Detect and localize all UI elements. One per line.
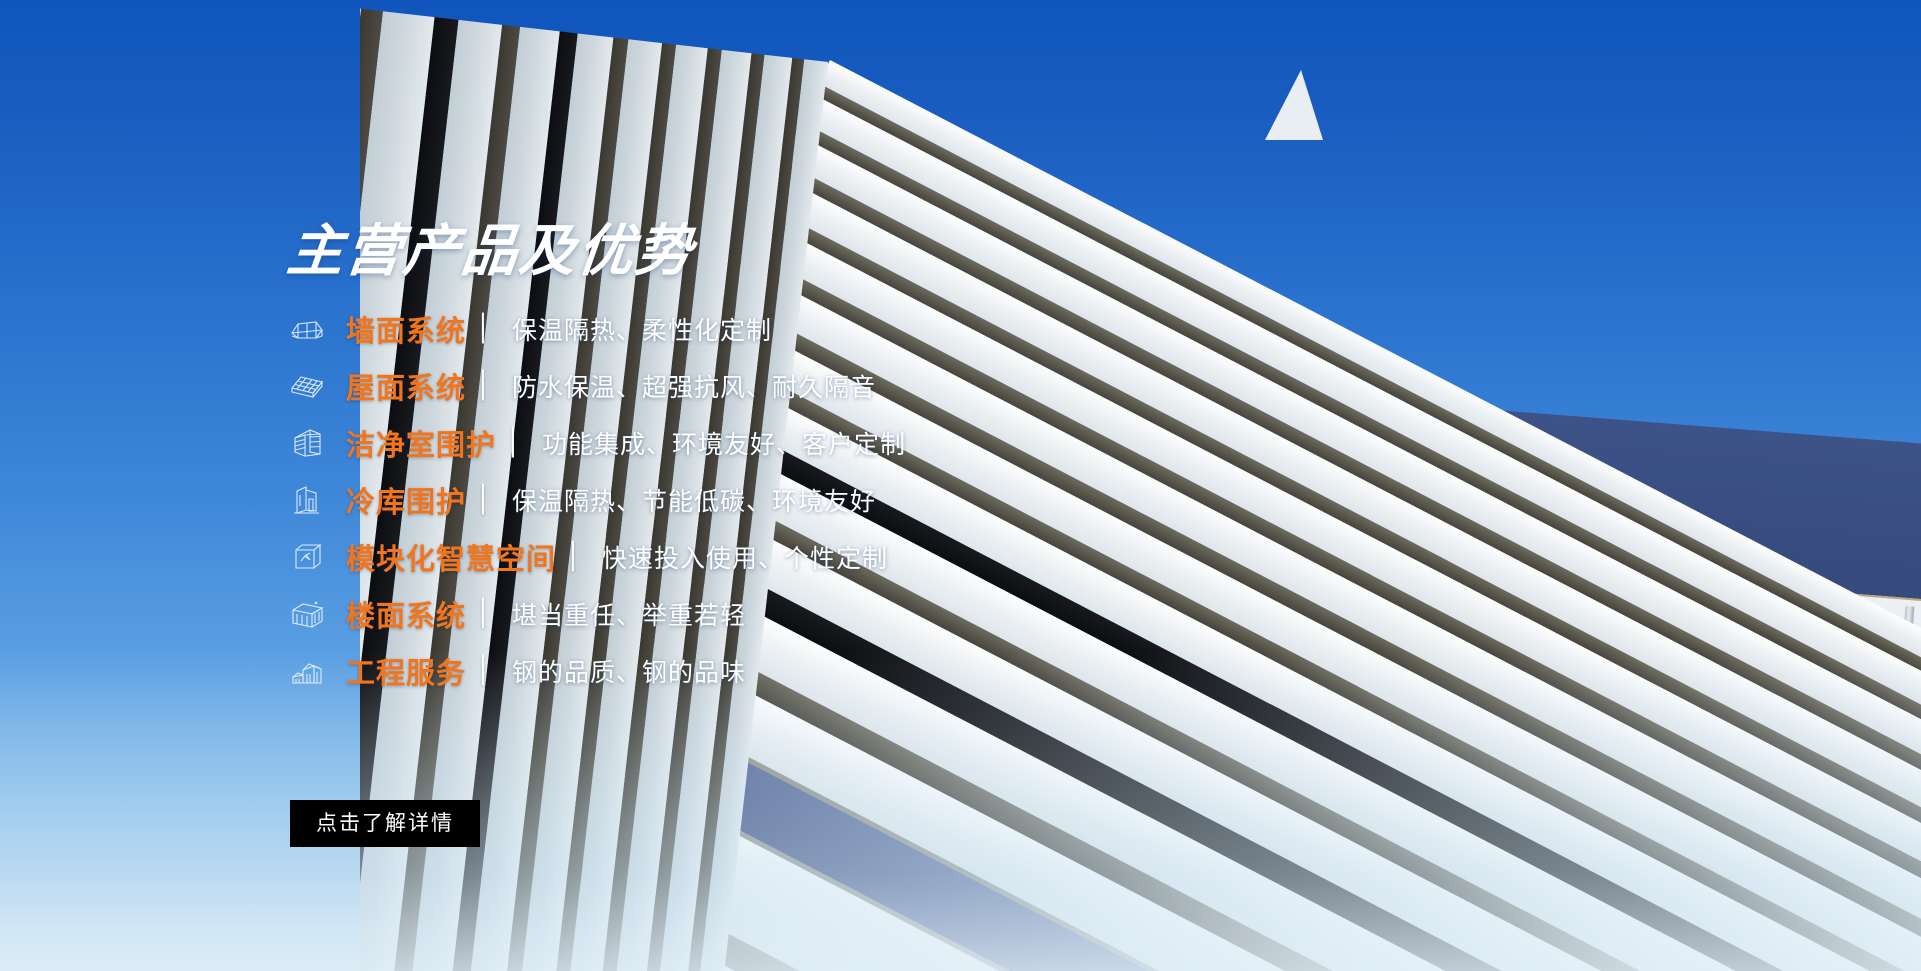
product-category: 楼面系统 (346, 593, 466, 635)
separator: ▏ (482, 598, 498, 629)
separator: ▏ (482, 655, 498, 686)
product-desc: 防水保温、超强抗风、耐久隔音 (512, 368, 876, 404)
banner-content: 主营产品及优势 墙面系统 ▏ 保温隔热、柔性化定制 (0, 0, 1100, 971)
hero-banner: 主营产品及优势 墙面系统 ▏ 保温隔热、柔性化定制 (0, 0, 1921, 971)
tower-tip (1265, 70, 1323, 140)
wall-panel-icon (286, 308, 328, 350)
product-category: 墙面系统 (346, 308, 466, 350)
list-item[interactable]: 冷库围护 ▏ 保温隔热、节能低碳、环境友好 (286, 471, 1086, 528)
product-desc: 功能集成、环境友好、客户定制 (542, 425, 906, 461)
modular-cube-icon (286, 536, 328, 578)
separator: ▏ (482, 313, 498, 344)
separator: ▏ (512, 427, 528, 458)
product-desc: 保温隔热、节能低碳、环境友好 (512, 482, 876, 518)
factory-service-icon (286, 650, 328, 692)
product-desc: 堪当重任、举重若轻 (512, 596, 746, 632)
product-desc: 快速投入使用、个性定制 (602, 539, 888, 575)
product-category: 模块化智慧空间 (346, 536, 556, 578)
product-desc: 钢的品质、钢的品味 (512, 653, 746, 689)
product-category: 屋面系统 (346, 365, 466, 407)
list-item[interactable]: 屋面系统 ▏ 防水保温、超强抗风、耐久隔音 (286, 357, 1086, 414)
roof-panel-icon (286, 365, 328, 407)
product-list: 墙面系统 ▏ 保温隔热、柔性化定制 屋面系统 ▏ 防水保温、超强抗 (286, 300, 1086, 699)
list-item[interactable]: 模块化智慧空间 ▏ 快速投入使用、个性定制 (286, 528, 1086, 585)
list-item[interactable]: 楼面系统 ▏ 堪当重任、举重若轻 (286, 585, 1086, 642)
list-item[interactable]: 洁净室围护 ▏ 功能集成、环境友好、客户定制 (286, 414, 1086, 471)
separator: ▏ (482, 484, 498, 515)
product-category: 洁净室围护 (346, 422, 496, 464)
product-desc: 保温隔热、柔性化定制 (512, 311, 772, 347)
list-item[interactable]: 墙面系统 ▏ 保温隔热、柔性化定制 (286, 300, 1086, 357)
separator: ▏ (482, 370, 498, 401)
separator: ▏ (572, 541, 588, 572)
floor-module-icon (286, 593, 328, 635)
page-title: 主营产品及优势 (284, 206, 699, 287)
product-category: 冷库围护 (346, 479, 466, 521)
learn-more-button[interactable]: 点击了解详情 (290, 800, 480, 847)
cold-storage-icon (286, 479, 328, 521)
list-item[interactable]: 工程服务 ▏ 钢的品质、钢的品味 (286, 642, 1086, 699)
cleanroom-building-icon (286, 422, 328, 464)
product-category: 工程服务 (346, 650, 466, 692)
